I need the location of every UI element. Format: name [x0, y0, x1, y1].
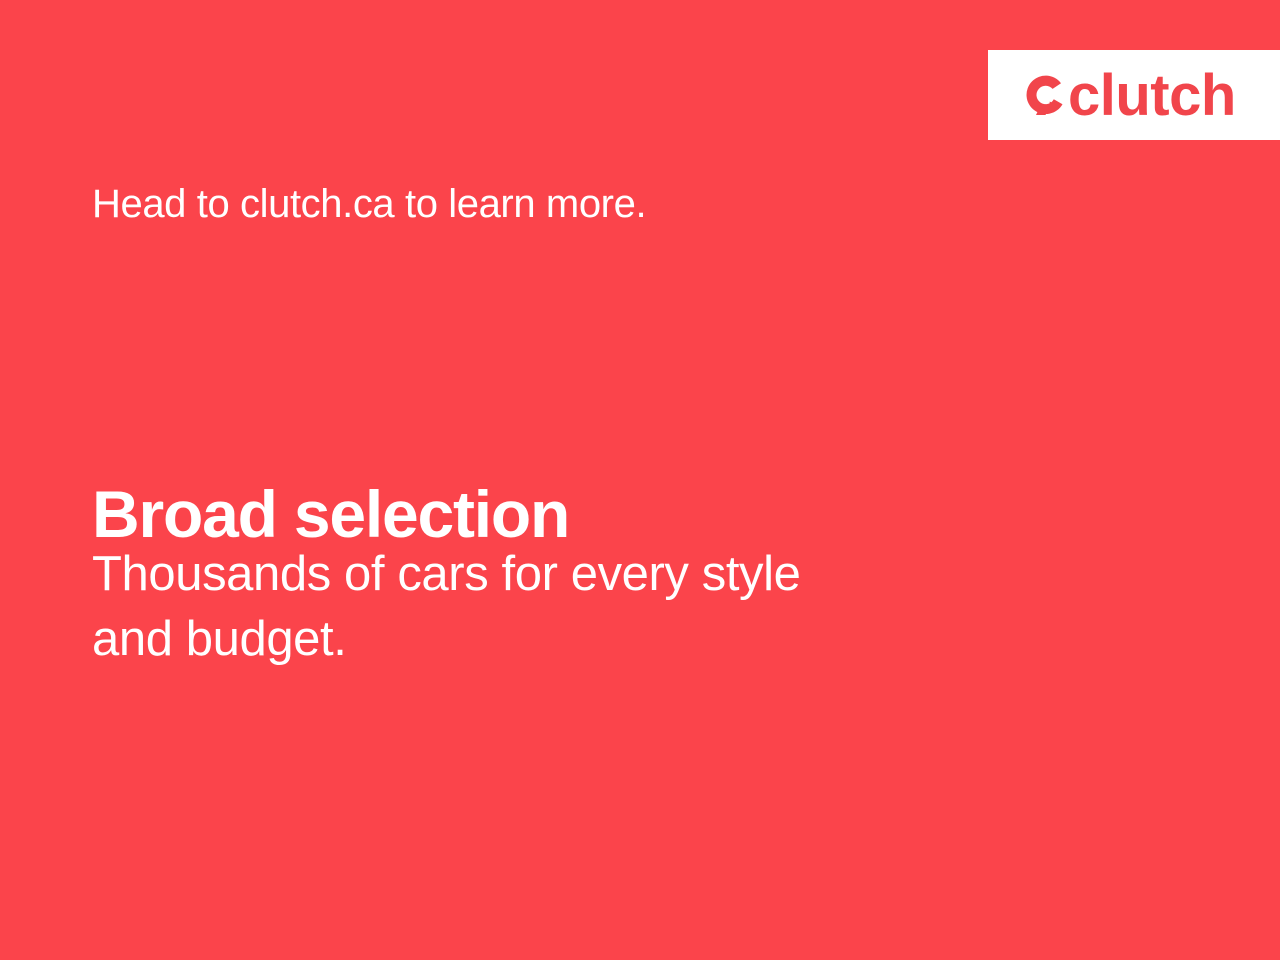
page-title: Broad selection [92, 480, 569, 549]
subhead-line-1: Thousands of cars for every style [92, 542, 1052, 607]
subhead-text: Thousands of cars for every style and bu… [92, 542, 1052, 672]
subhead-line-2: and budget. [92, 607, 1052, 672]
slide-canvas: clutch Head to clutch.ca to learn more. … [0, 0, 1280, 960]
clutch-c-mark-icon [1022, 71, 1068, 119]
clutch-logo-badge[interactable]: clutch [988, 50, 1280, 140]
logo-lockup: clutch [1022, 69, 1236, 121]
clutch-wordmark: clutch [1068, 67, 1236, 125]
eyebrow-text: Head to clutch.ca to learn more. [92, 180, 646, 228]
